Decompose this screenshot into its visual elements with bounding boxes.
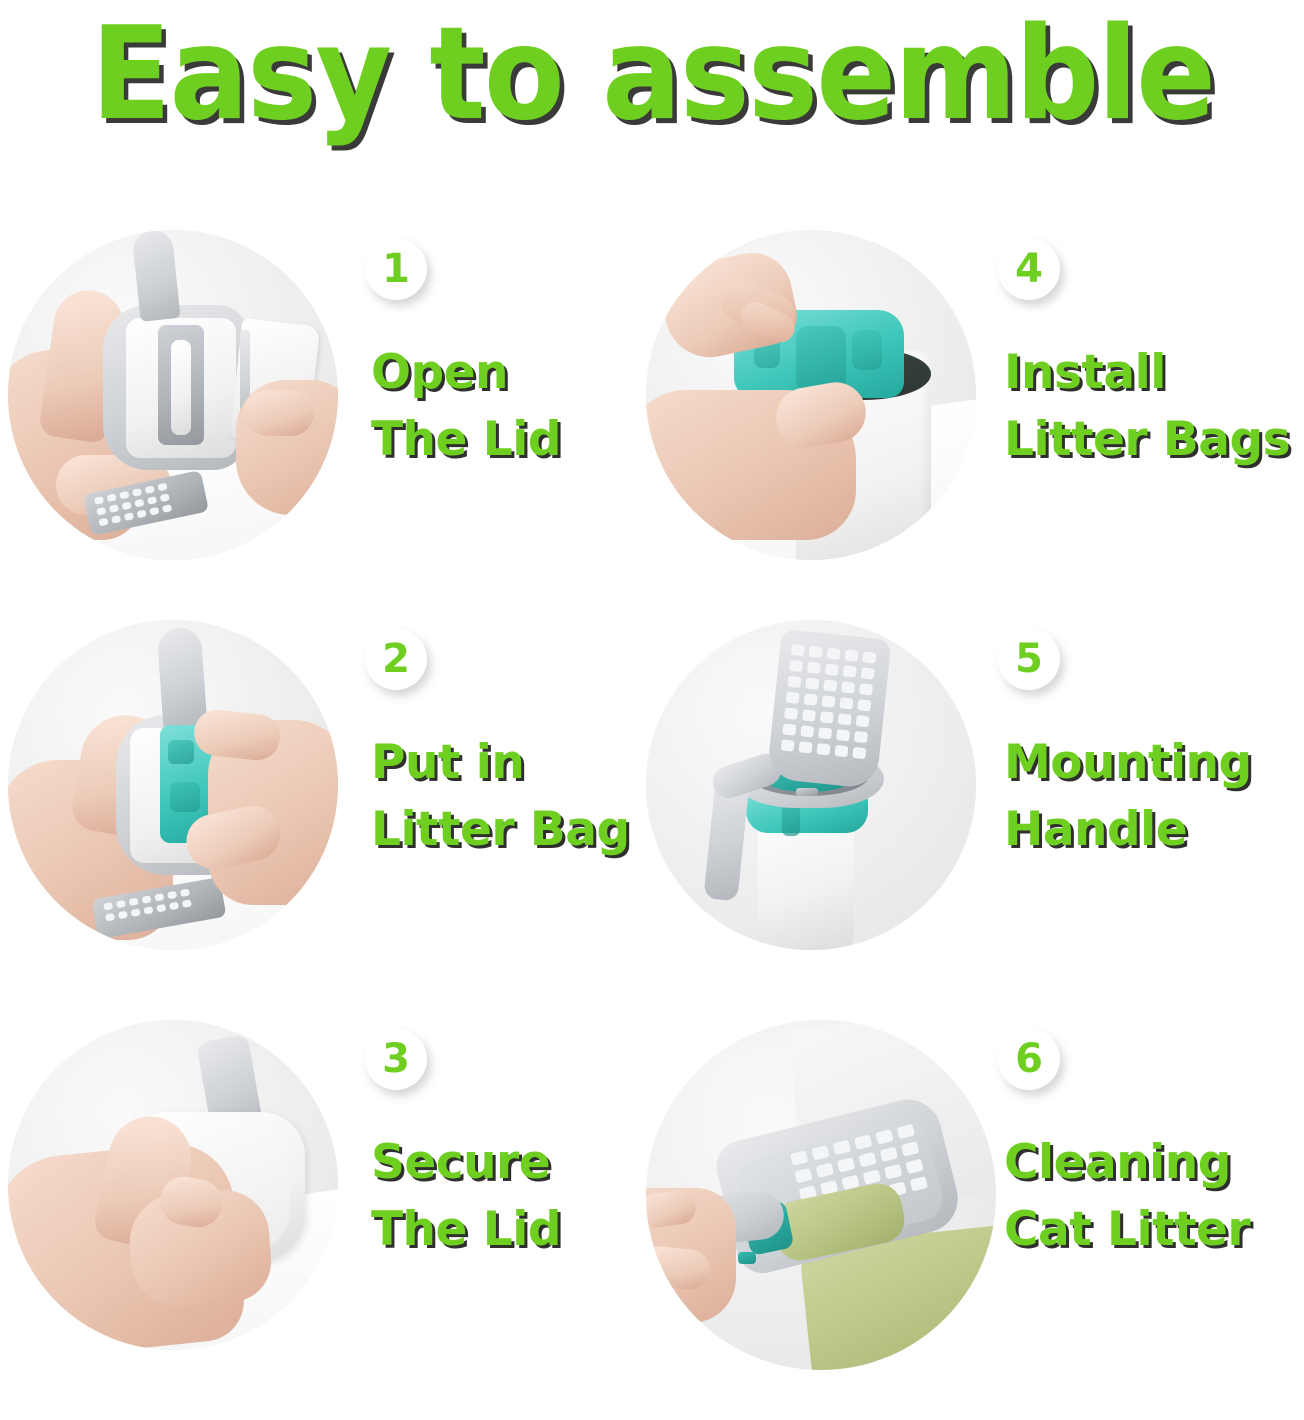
photo-install-litter-bags [646, 230, 976, 560]
step-badge-6: 6 [998, 1028, 1060, 1090]
page-title: Easy to assemble [90, 11, 1213, 139]
step-caption-line2: Cat Litter [1004, 1197, 1304, 1264]
step-number-5: 5 [1015, 639, 1043, 679]
step-number-3: 3 [382, 1039, 410, 1079]
photo-cleaning-cat-litter [646, 1020, 996, 1370]
step-card-4: 4 Install Litter Bags [640, 230, 1292, 630]
step-card-3: 3 Secure The Lid [0, 1020, 652, 1420]
photo-open-the-lid [8, 230, 338, 560]
step-card-2: 2 Put in Litter Bag [0, 620, 652, 1020]
photo-mounting-handle [646, 620, 976, 950]
header: Easy to assemble [0, 0, 1304, 150]
step-badge-2: 2 [365, 628, 427, 690]
step-badge-4: 4 [998, 238, 1060, 300]
step-caption-5: Mounting Handle [1004, 730, 1304, 863]
step-caption-line1: Secure [371, 1135, 550, 1190]
step-caption-6: Cleaning Cat Litter [1004, 1130, 1304, 1263]
step-badge-1: 1 [365, 238, 427, 300]
step-caption-line1: Open [371, 345, 508, 400]
step-card-5: 5 Mounting Handle [640, 620, 1292, 1020]
photo-secure-the-lid [8, 1020, 338, 1350]
step-caption-line2: Litter Bags [1004, 407, 1304, 474]
step-caption-line1: Cleaning [1004, 1135, 1231, 1190]
step-caption-line1: Install [1004, 345, 1166, 400]
step-number-4: 4 [1015, 249, 1043, 289]
step-number-6: 6 [1015, 1039, 1043, 1079]
step-number-1: 1 [382, 249, 410, 289]
step-caption-line1: Mounting [1004, 735, 1252, 790]
step-caption-line2: Handle [1004, 797, 1304, 864]
step-card-1: 1 Open The Lid [0, 230, 652, 630]
step-caption-line1: Put in [371, 735, 524, 790]
step-badge-3: 3 [365, 1028, 427, 1090]
photo-put-in-litter-bag [8, 620, 338, 950]
step-number-2: 2 [382, 639, 410, 679]
step-card-6: 6 Cleaning Cat Litter [640, 1020, 1292, 1420]
steps-grid: 1 Open The Lid [0, 150, 1304, 1401]
step-caption-4: Install Litter Bags [1004, 340, 1304, 473]
step-badge-5: 5 [998, 628, 1060, 690]
